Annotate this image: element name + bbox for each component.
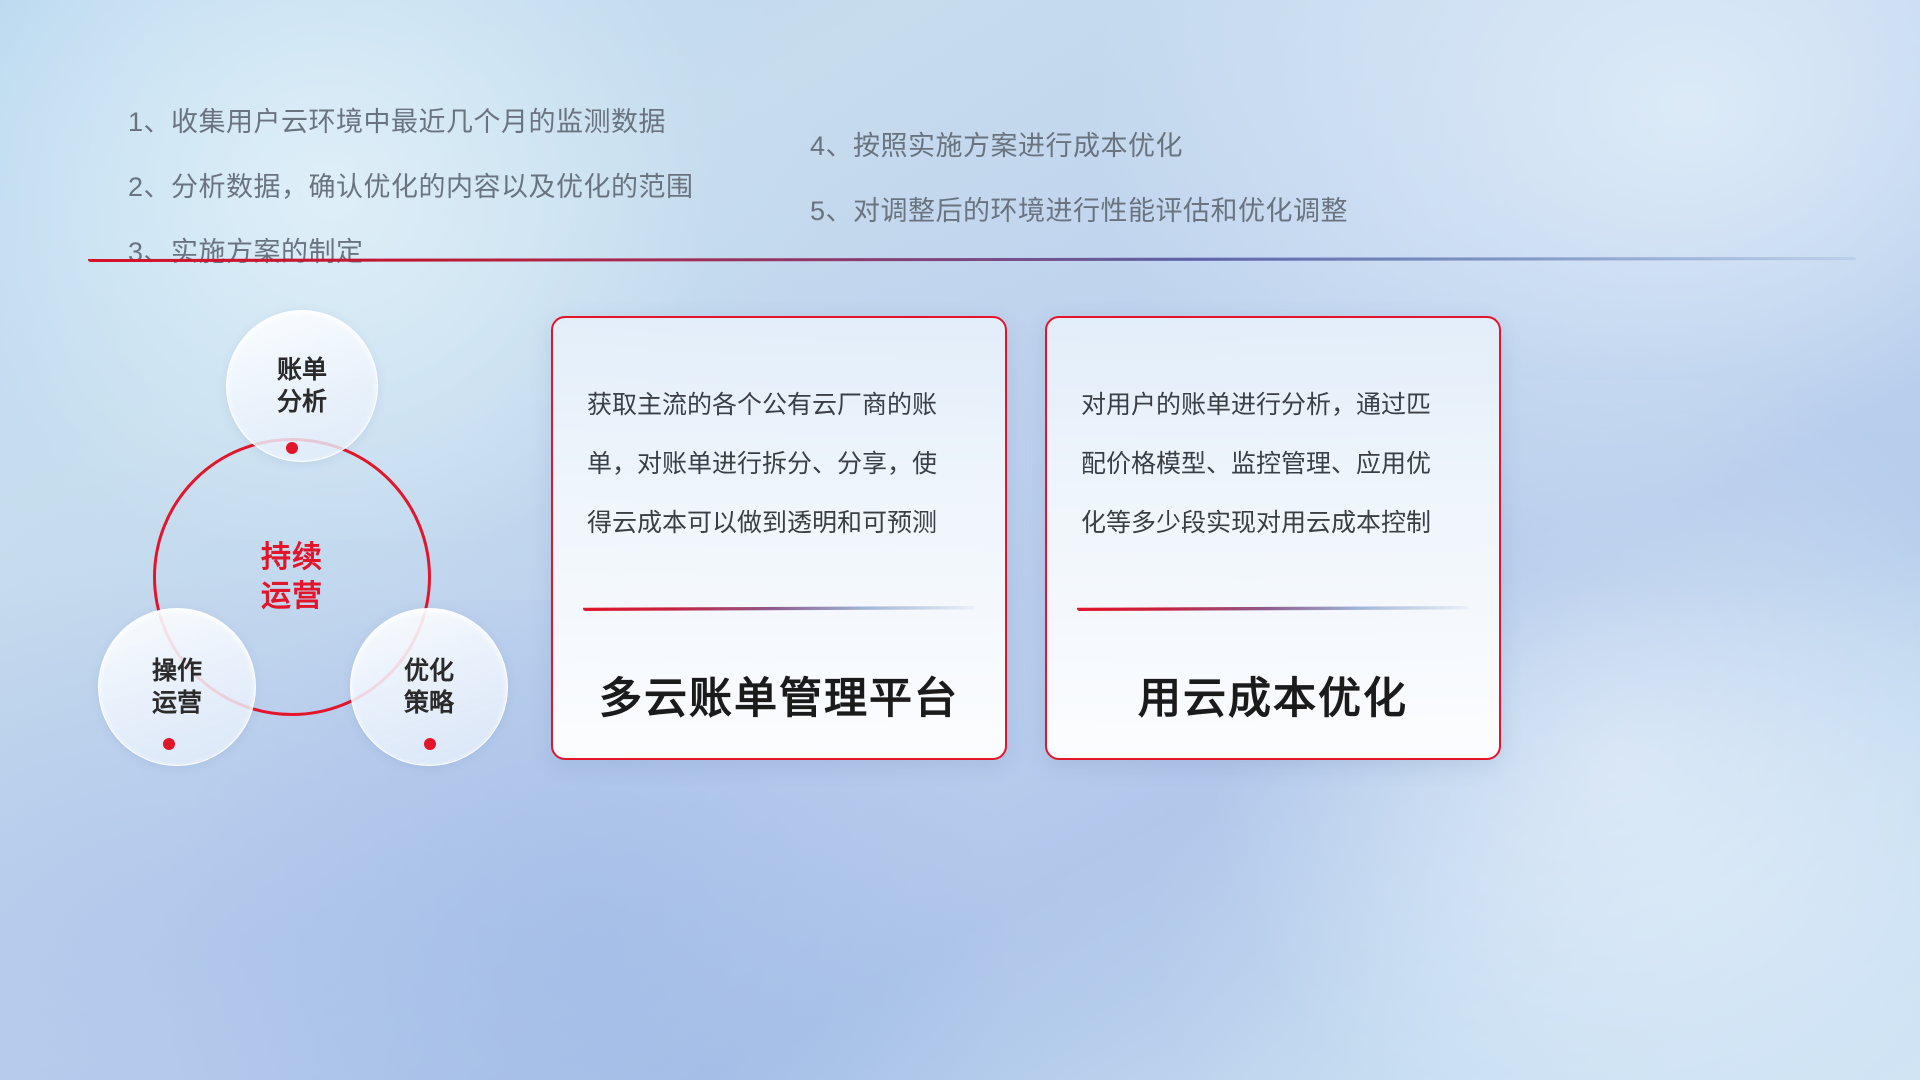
step-item-2: 2、分析数据，确认优化的内容以及优化的范围 [128, 165, 694, 204]
diagram-center-line2: 运营 [261, 580, 323, 613]
continuous-operation-diagram: 账单 分析 操作 运营 优化 策略 持续 运营 [80, 290, 540, 770]
card-multi-cloud-billing-body: 获取主流的各个公有云厂商的账 单，对账单进行拆分、分享，使 得云成本可以做到透明… [553, 318, 1005, 552]
diagram-center-line1: 持续 [261, 541, 323, 574]
card-right-line-2: 配价格模型、监控管理、应用优 [1081, 435, 1465, 494]
card-right-line-3: 化等多少段实现对用云成本控制 [1081, 494, 1465, 553]
card-left-divider [583, 606, 975, 611]
step-item-3: 3、实施方案的制定 [128, 230, 694, 269]
card-right-line-1: 对用户的账单进行分析，通过匹 [1081, 376, 1465, 435]
step-item-1: 1、收集用户云环境中最近几个月的监测数据 [128, 100, 694, 139]
steps-list-right: 4、按照实施方案进行成本优化 5、对调整后的环境进行性能评估和优化调整 [810, 124, 1348, 254]
bubble-billing-analysis-line1: 账单 [277, 356, 327, 384]
diagram-node-dot-top [286, 442, 298, 454]
diagram-center-label: 持续 运营 [153, 438, 431, 716]
card-left-title: 多云账单管理平台 [553, 664, 1005, 726]
card-multi-cloud-billing[interactable]: 获取主流的各个公有云厂商的账 单，对账单进行拆分、分享，使 得云成本可以做到透明… [551, 316, 1007, 760]
step-item-5: 5、对调整后的环境进行性能评估和优化调整 [810, 189, 1348, 228]
card-left-line-3: 得云成本可以做到透明和可预测 [587, 494, 971, 553]
card-cloud-cost-optimization-body: 对用户的账单进行分析，通过匹 配价格模型、监控管理、应用优 化等多少段实现对用云… [1047, 318, 1499, 552]
card-right-divider [1077, 606, 1469, 611]
step-item-4: 4、按照实施方案进行成本优化 [810, 124, 1348, 163]
steps-list-left: 1、收集用户云环境中最近几个月的监测数据 2、分析数据，确认优化的内容以及优化的… [128, 100, 694, 295]
bubble-billing-analysis-line2: 分析 [277, 388, 327, 416]
card-cloud-cost-optimization[interactable]: 对用户的账单进行分析，通过匹 配价格模型、监控管理、应用优 化等多少段实现对用云… [1045, 316, 1501, 760]
card-left-line-1: 获取主流的各个公有云厂商的账 [587, 376, 971, 435]
diagram-node-dot-left [163, 738, 175, 750]
card-right-title: 用云成本优化 [1047, 664, 1499, 726]
diagram-node-dot-right [424, 738, 436, 750]
card-left-line-2: 单，对账单进行拆分、分享，使 [587, 435, 971, 494]
